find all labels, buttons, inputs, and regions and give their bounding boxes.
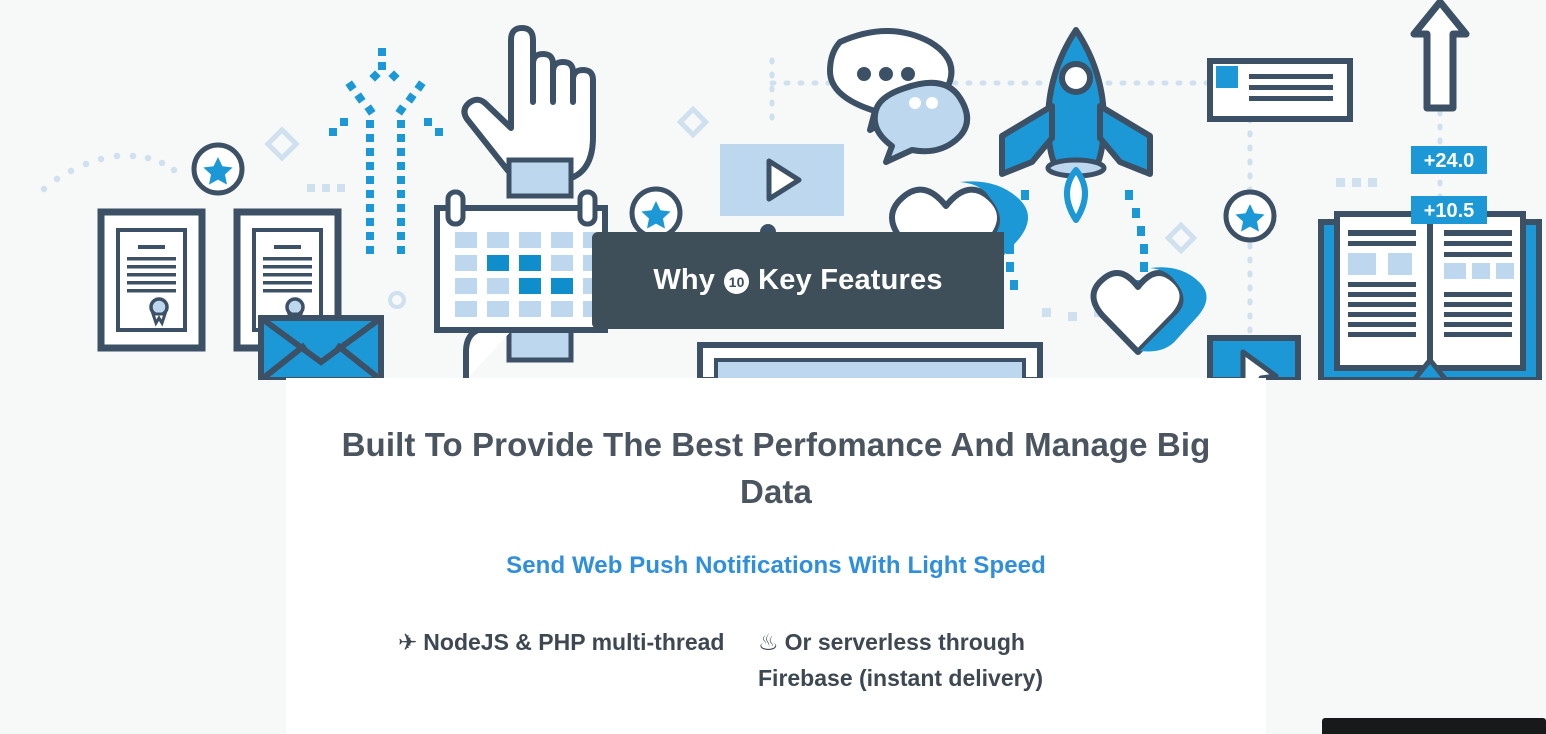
feature-label: Or serverless through Firebase (instant … bbox=[758, 629, 1043, 691]
document-card-icon bbox=[1210, 61, 1350, 119]
open-book-icon bbox=[1321, 214, 1539, 380]
corner-widget-bar[interactable] bbox=[1322, 718, 1546, 734]
calendar-icon bbox=[437, 192, 605, 330]
feature-list: ✈NodeJS & PHP multi-thread ♨Or serverles… bbox=[314, 624, 1238, 697]
feature-label: NodeJS & PHP multi-thread bbox=[423, 629, 724, 655]
star-badge-right bbox=[1226, 192, 1274, 240]
flame-icon: ♨ bbox=[758, 629, 779, 655]
page-subtitle: Send Web Push Notifications With Light S… bbox=[314, 552, 1238, 580]
page-title: Built To Provide The Best Perfomance And… bbox=[314, 422, 1238, 516]
svg-text:+10.5: +10.5 bbox=[1424, 200, 1475, 222]
landing-page: +24.0 +10.5 Why 10 Key Features Built To… bbox=[0, 0, 1546, 734]
envelope-icon bbox=[261, 318, 381, 380]
airplane-icon: ✈ bbox=[398, 629, 417, 655]
ribbon-label: Why 10 Key Features bbox=[653, 264, 942, 297]
certificate-frame-left bbox=[101, 212, 202, 348]
value-badge-upper: +24.0 bbox=[1411, 146, 1487, 174]
ribbon-prefix: Why bbox=[653, 264, 715, 297]
why-key-features-ribbon[interactable]: Why 10 Key Features bbox=[592, 232, 1004, 329]
star-badge-center bbox=[632, 189, 680, 237]
ribbon-suffix: Key Features bbox=[758, 264, 943, 297]
value-badge-lower: +10.5 bbox=[1411, 196, 1487, 224]
ribbon-count-badge: 10 bbox=[724, 269, 749, 294]
feature-item-nodejs-php: ✈NodeJS & PHP multi-thread bbox=[398, 624, 758, 697]
svg-text:+24.0: +24.0 bbox=[1424, 150, 1475, 172]
dot-cluster-right bbox=[1336, 178, 1377, 187]
cursor-box-icon bbox=[1210, 338, 1298, 380]
star-badge-left bbox=[194, 145, 242, 193]
dot-cluster-left bbox=[307, 184, 345, 192]
content-card: Built To Provide The Best Perfomance And… bbox=[286, 378, 1266, 734]
feature-item-firebase: ♨Or serverless through Firebase (instant… bbox=[758, 624, 1118, 697]
